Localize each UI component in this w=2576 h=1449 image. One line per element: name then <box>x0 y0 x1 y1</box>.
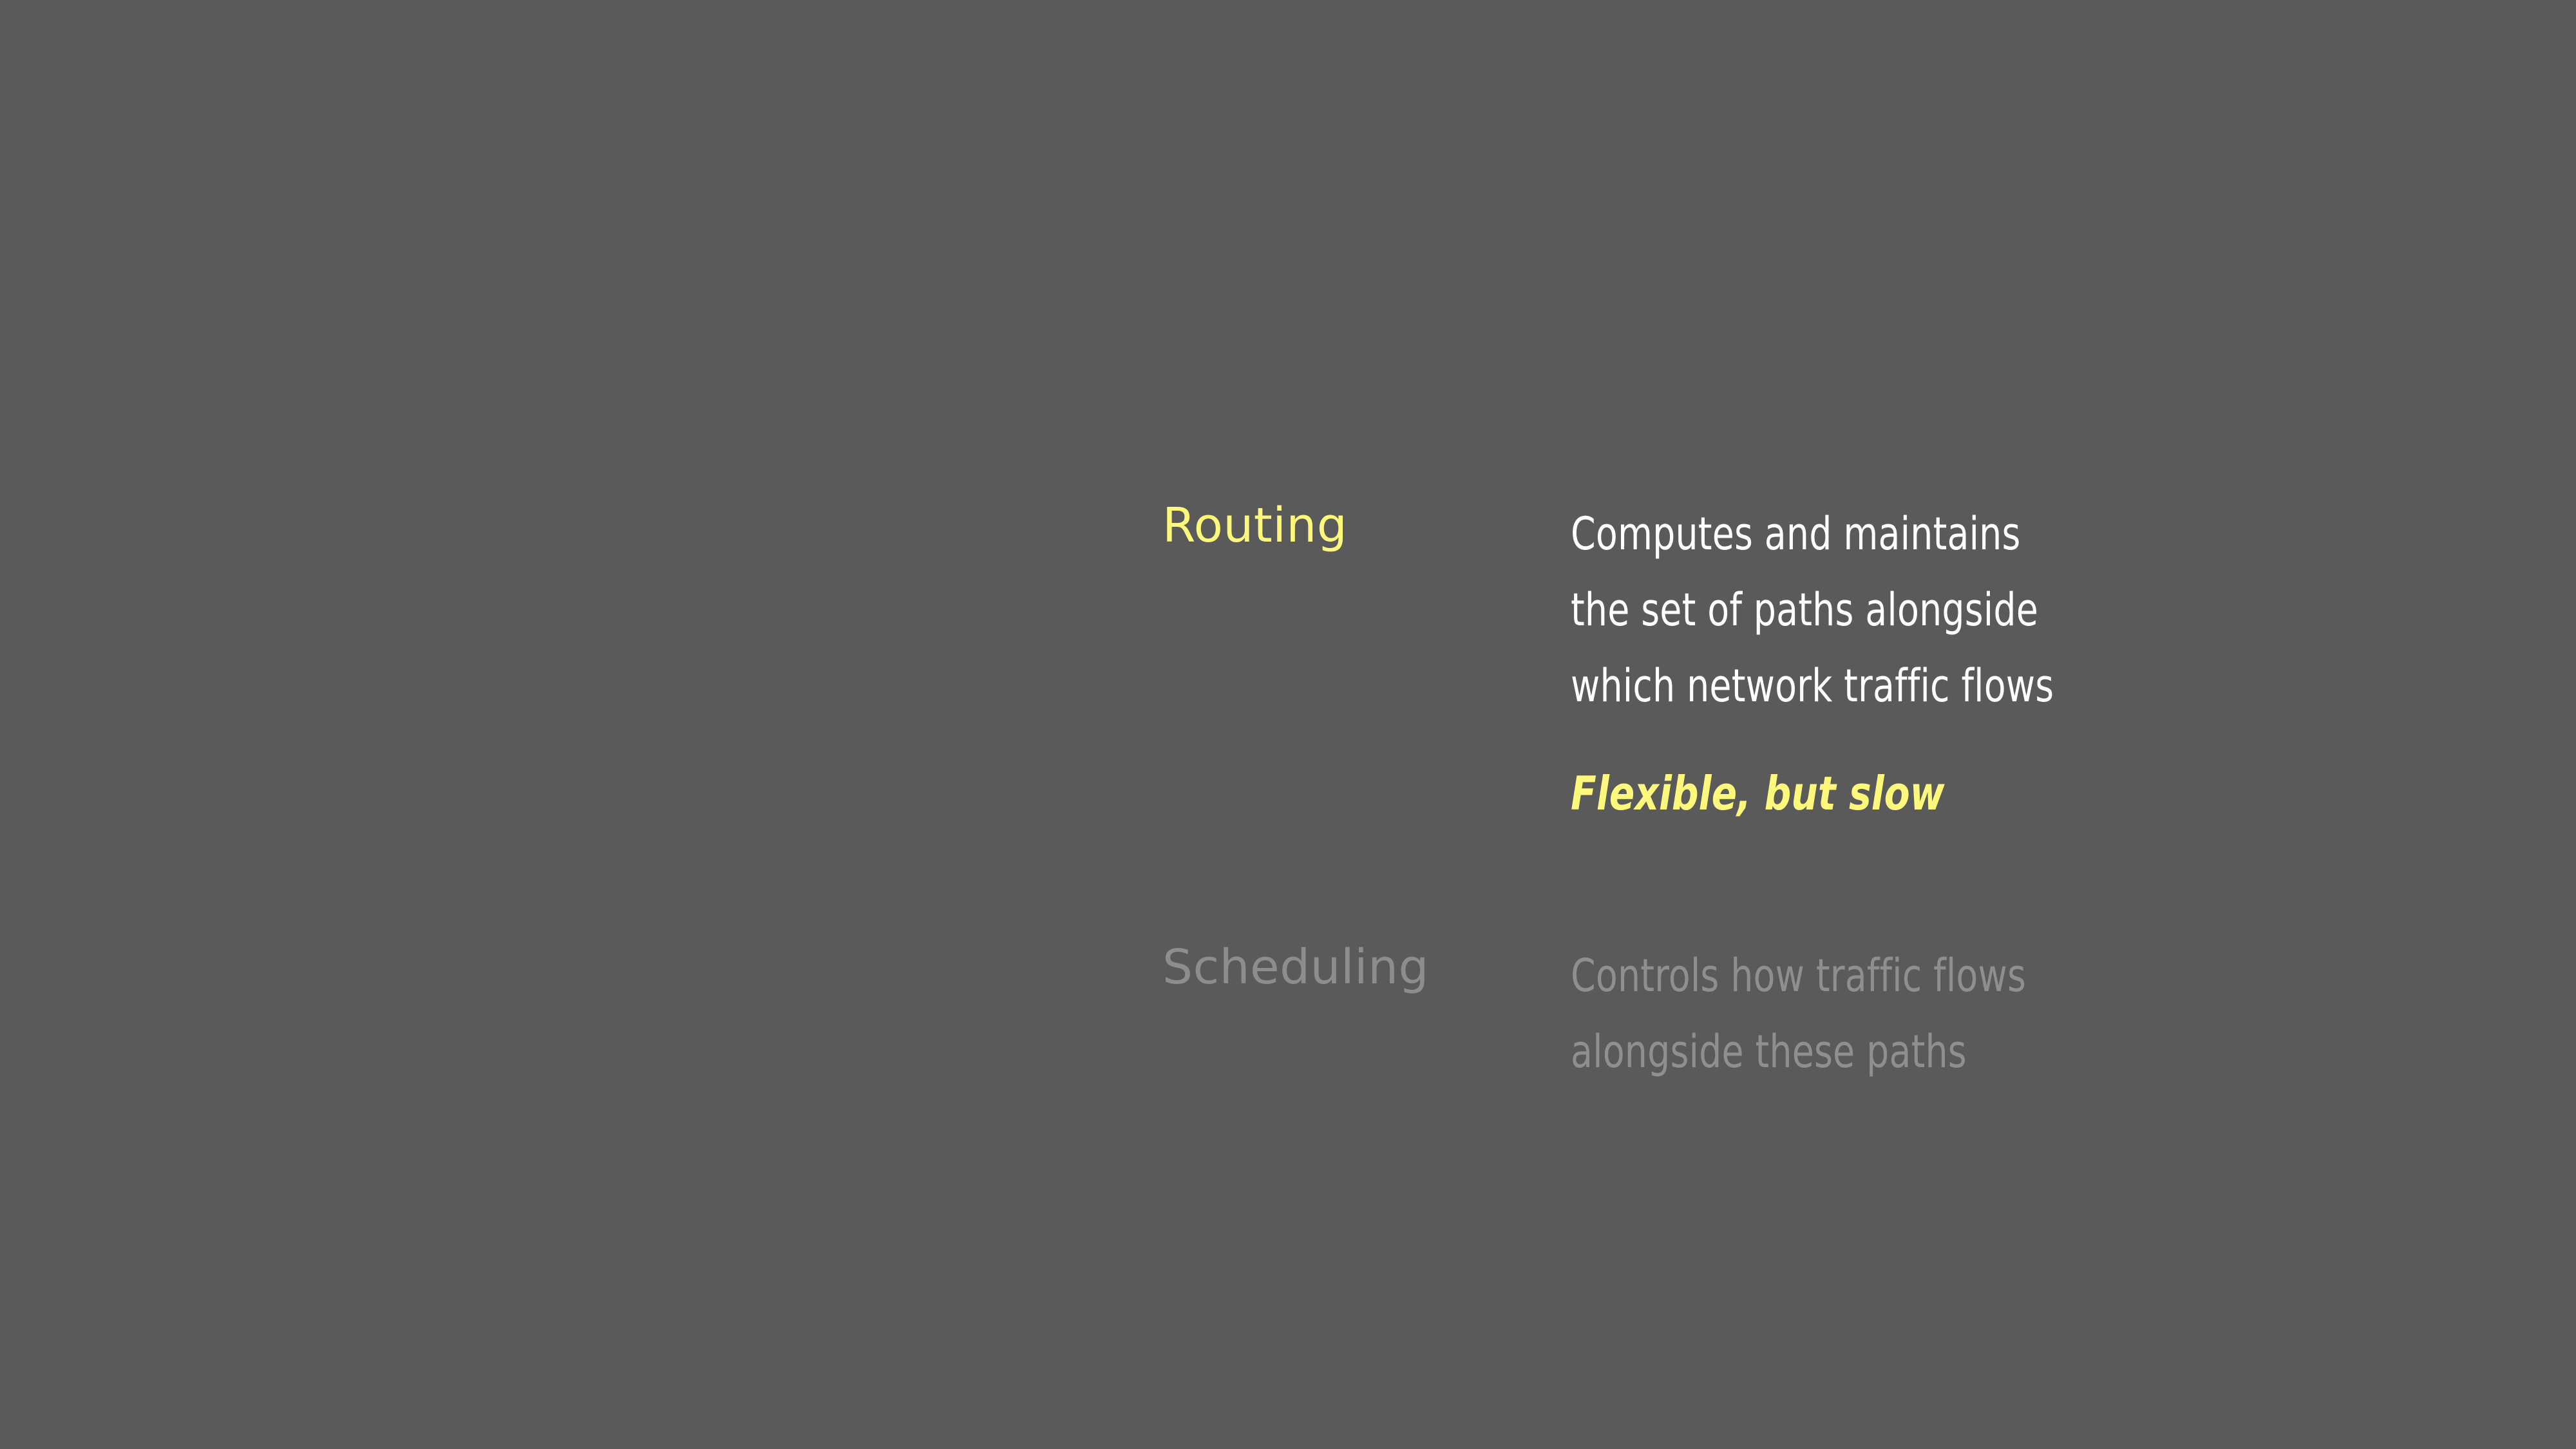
routing-description-column: Computes and maintains the set of paths … <box>1571 496 2257 824</box>
routing-description-line: the set of paths alongside <box>1571 572 2175 648</box>
concept-label-scheduling: Scheduling <box>1162 938 1571 997</box>
scheduling-description: Controls how traffic flows alongside the… <box>1571 938 2175 1090</box>
routing-description-line: Computes and maintains <box>1571 496 2175 572</box>
slide-content: Routing Computes and maintains the set o… <box>1162 496 2257 1090</box>
scheduling-description-line: alongside these paths <box>1571 1014 2175 1090</box>
concept-label-routing: Routing <box>1162 496 1571 555</box>
routing-emphasis-note: Flexible, but slow <box>1571 762 2188 824</box>
scheduling-description-line: Controls how traffic flows <box>1571 938 2175 1014</box>
presentation-slide: Routing Computes and maintains the set o… <box>0 0 2576 1449</box>
concept-row-scheduling: Scheduling Controls how traffic flows al… <box>1162 938 2257 1090</box>
concept-row-routing: Routing Computes and maintains the set o… <box>1162 496 2257 824</box>
scheduling-description-column: Controls how traffic flows alongside the… <box>1571 938 2257 1090</box>
routing-description: Computes and maintains the set of paths … <box>1571 496 2175 724</box>
routing-label-column: Routing <box>1162 496 1571 555</box>
routing-description-line: which network traffic flows <box>1571 648 2175 724</box>
scheduling-label-column: Scheduling <box>1162 938 1571 997</box>
